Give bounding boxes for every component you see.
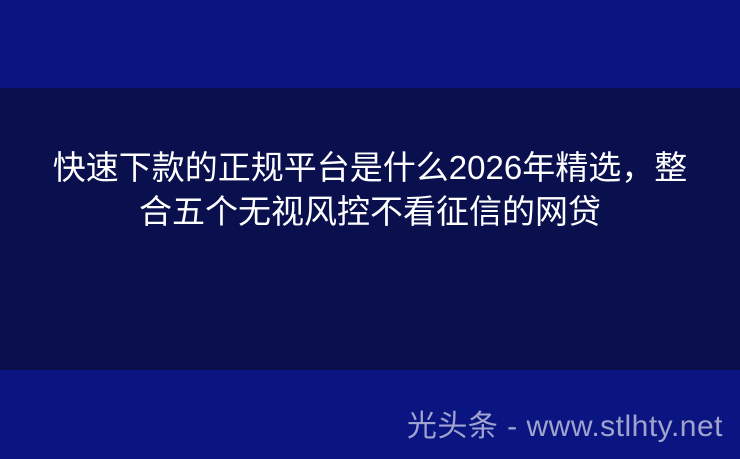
- background-band-top: [0, 0, 740, 88]
- article-cover-image: 快速下款的正规平台是什么2026年精选，整合五个无视风控不看征信的网贷 光头条 …: [0, 0, 740, 459]
- page-title: 快速下款的正规平台是什么2026年精选，整合五个无视风控不看征信的网贷: [42, 146, 698, 234]
- site-watermark: 光头条 - www.stlhty.net: [407, 409, 723, 445]
